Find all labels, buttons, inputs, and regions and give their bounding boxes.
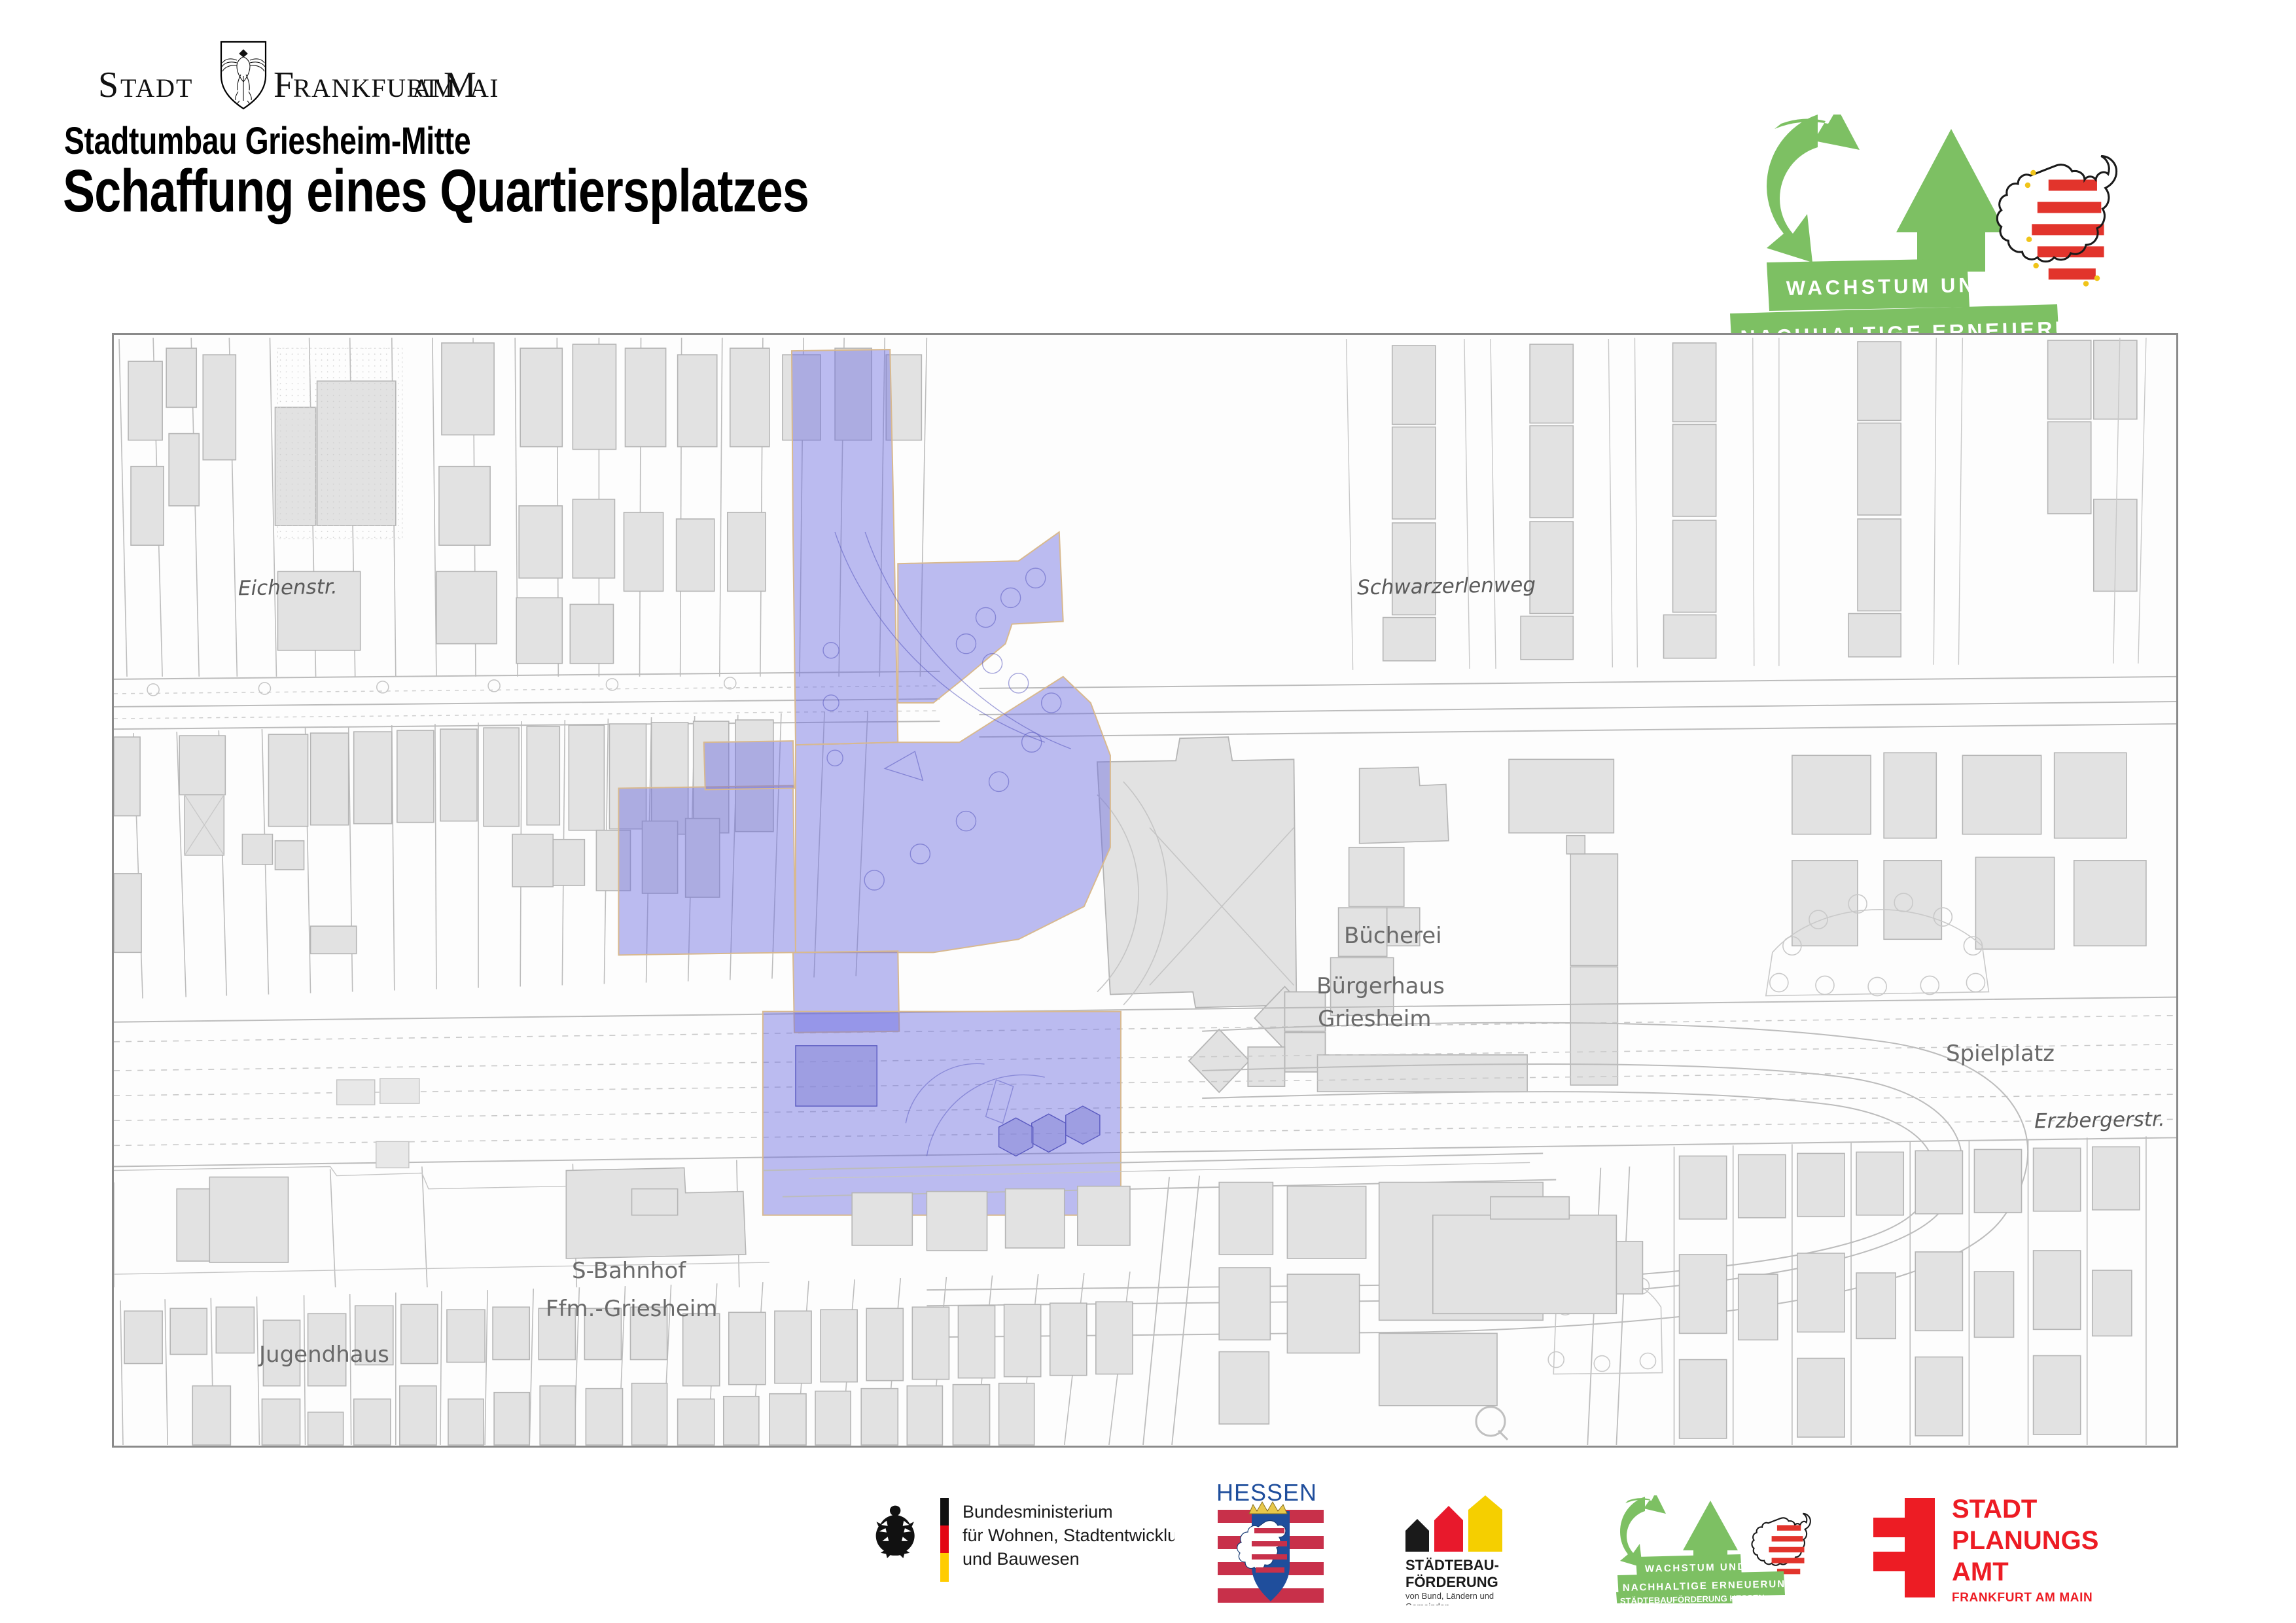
map-drawing: [114, 335, 2176, 1446]
staedtebau-line-2: FÖRDERUNG: [1405, 1574, 1498, 1590]
stadtplanung-line-3: AMT: [1952, 1558, 2009, 1586]
staedtebau-sub-2: Gemeinden: [1405, 1601, 1449, 1605]
page-title: Schaffung eines Quartiersplatzes: [63, 157, 809, 226]
stadtplanungsamt-logo: STADT PLANUNGS AMT FRANKFURT AM MAIN: [1848, 1489, 2156, 1607]
svg-text:AIN: AIN: [470, 73, 497, 103]
stadt-frankfurt-logo: S TADT F RANKFURT AM M AIN: [92, 31, 497, 110]
cadastral-map[interactable]: Eichenstr. Schwarzerlenweg Erzbergerstr.…: [112, 333, 2178, 1448]
stadt-frankfurt-wappen-icon: S TADT F RANKFURT AM M AIN: [92, 31, 497, 110]
stadtplanung-line-1: STADT: [1952, 1495, 2037, 1524]
staedtebau-line-1: STÄDTEBAU-: [1405, 1557, 1499, 1573]
stadtplanung-line-2: PLANUNGS: [1952, 1526, 2098, 1555]
wachstum-nachhaltige-erneuerung-logo-footer: WACHSTUM UND NACHHALTIGE ERNEUERUNG STÄD…: [1616, 1495, 1832, 1603]
staedtebaufoerderung-logo: STÄDTEBAU- FÖRDERUNG von Bund, Ländern u…: [1400, 1494, 1551, 1605]
stadtplanung-line-4: FRANKFURT AM MAIN: [1952, 1591, 2093, 1605]
bmwsb-line-2: für Wohnen, Stadtentwicklung: [963, 1525, 1174, 1545]
project-subtitle: Stadtumbau Griesheim-Mitte: [64, 119, 470, 163]
program-line-1: WACHSTUM UND: [1786, 273, 1995, 300]
svg-text:TADT: TADT: [120, 73, 193, 103]
bmwsb-line-3: und Bauwesen: [963, 1549, 1080, 1569]
bundesministerium-logo: Bundesministerium für Wohnen, Stadtentwi…: [867, 1494, 1174, 1586]
hessen-label: HESSEN: [1216, 1481, 1317, 1506]
svg-text:F: F: [274, 65, 294, 105]
bmwsb-line-1: Bundesministerium: [963, 1502, 1113, 1522]
svg-text:S: S: [98, 65, 119, 105]
hessen-logo: HESSEN: [1214, 1481, 1328, 1605]
staedtebau-sub-1: von Bund, Ländern und: [1405, 1591, 1494, 1601]
